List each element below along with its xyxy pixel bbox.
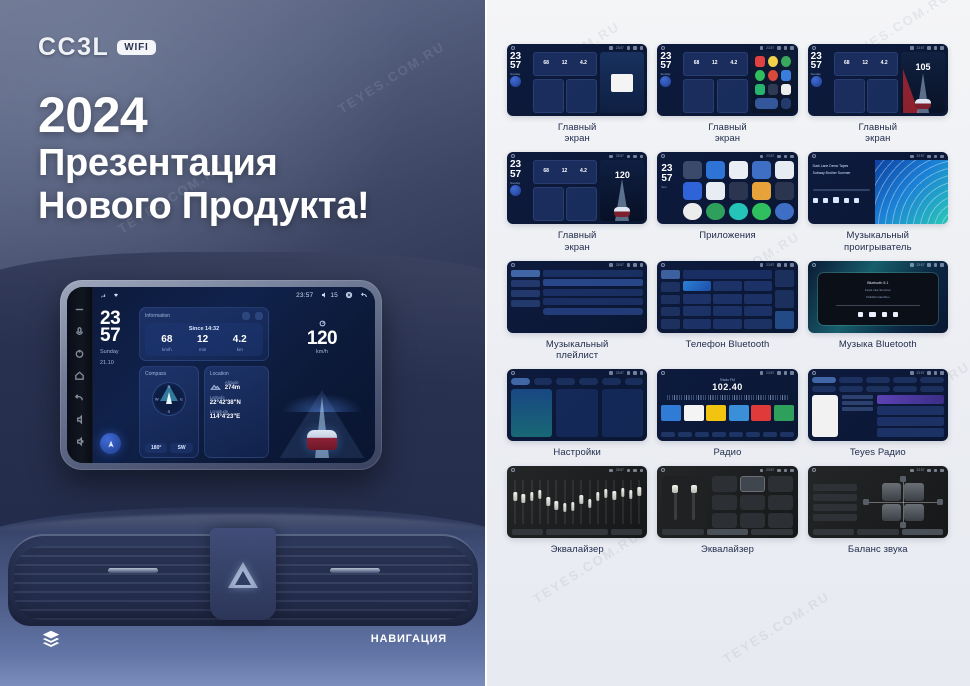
logo-wifi-badge: WIFI: [117, 40, 155, 55]
navigation-fab-button[interactable]: [100, 433, 121, 454]
gallery-item[interactable]: 23:57 Эквалайзер: [657, 466, 797, 555]
clock-weekday: Sunday: [100, 349, 134, 356]
balance-right-arrow[interactable]: [937, 499, 943, 505]
caption-line-2: плейлист: [546, 350, 609, 361]
gallery-item[interactable]: 23:57 Музыкальный плейлист: [507, 261, 647, 361]
home-icon[interactable]: [74, 370, 85, 381]
menu-icon[interactable]: [74, 304, 85, 315]
compass-direction: SW: [170, 443, 192, 453]
headline-line-2: Нового Продукта!: [38, 185, 369, 228]
status-volume: 15: [330, 292, 338, 299]
information-since: Since 14:32: [149, 326, 259, 332]
layers-stack-icon: [40, 628, 62, 650]
screen-thumbnail-home-media[interactable]: 23:57 2357Sunday 68124.2: [507, 44, 647, 116]
screen-thumbnail-equalizer-bands[interactable]: 23:57: [507, 466, 647, 538]
back-arrow-icon[interactable]: [360, 291, 368, 299]
speed-unit: km/h: [274, 349, 370, 355]
latitude-value: 22°42'38"N: [210, 400, 263, 406]
presentation-slide: TEYES.COM.RU TEYES.COM.RU TEYES.COM.RU C…: [0, 0, 970, 686]
screen-thumbnail-bt-phone[interactable]: 23:57: [657, 261, 797, 333]
screen-thumbnail-home-drive[interactable]: 23:57 2357Sunday 68124.2 120: [507, 152, 647, 224]
clock-date: 21.10: [100, 360, 134, 367]
head-unit-bezel: [67, 287, 93, 463]
caption-line-1: Радио: [714, 447, 742, 458]
back-icon[interactable]: [74, 392, 85, 403]
power-icon[interactable]: [74, 348, 85, 359]
location-card[interactable]: Location Altitude 274m: [204, 366, 269, 458]
headline-line-1: Презентация: [38, 142, 369, 185]
caption-line-1: Главный: [708, 122, 747, 133]
radio-frequency: 102.40: [661, 382, 793, 392]
head-unit: 23:57 15: [60, 280, 382, 470]
gallery-item[interactable]: 23:57 Настройки: [507, 369, 647, 458]
stat-duration: 12 min: [197, 335, 208, 352]
hazard-triangle-icon: [228, 562, 258, 588]
stat-value: 68: [161, 335, 172, 345]
gallery-item[interactable]: 23:57 Dark Lane Demo Tapes Subway Brothe…: [808, 152, 948, 252]
compass-heading: 180°: [145, 443, 167, 453]
screen-thumbnail-sound-balance[interactable]: 23:57: [808, 466, 948, 538]
stat-unit: km: [233, 347, 247, 352]
screen-thumbnail-apps[interactable]: 23:57 2357Sun: [657, 152, 797, 224]
gallery-item[interactable]: 23:57 Teyes Радио: [808, 369, 948, 458]
volume-down-icon[interactable]: [74, 414, 85, 425]
balance-left-arrow[interactable]: [863, 499, 869, 505]
headline-year: 2024: [38, 88, 369, 142]
gallery-item[interactable]: 23:57 2357Sunday 68124.2 Главный: [507, 44, 647, 144]
navigation-arrow-icon: [106, 439, 116, 449]
information-title: Information: [145, 313, 170, 319]
gallery-item[interactable]: 23:57: [507, 466, 647, 555]
caption-line-1: Эквалайзер: [551, 544, 604, 555]
screen-thumbnail-bt-music[interactable]: 23:57 Bluetooth 5.1 Feels Like Summer Ch…: [808, 261, 948, 333]
settings-gear-icon[interactable]: [345, 291, 353, 299]
stat-unit: km/h: [161, 347, 172, 352]
screen-thumbnail-home-apps[interactable]: 23:57 2357Sunday 68124.2: [657, 44, 797, 116]
stat-speed: 68 km/h: [161, 335, 172, 352]
mic-icon[interactable]: [74, 326, 85, 337]
head-unit-screen[interactable]: 23:57 15: [93, 287, 375, 463]
altitude-value: 274m: [225, 385, 240, 391]
compass-north: N: [167, 384, 170, 389]
speed-gauge-icon: [318, 319, 327, 328]
caption-line-1: Главный: [558, 230, 597, 241]
gallery-item[interactable]: 23:57 2357Sun Приложения: [657, 152, 797, 252]
watermark: TEYES.COM.RU: [720, 589, 832, 667]
hero-footer: НАВИГАЦИЯ: [0, 628, 485, 652]
hero-panel: TEYES.COM.RU TEYES.COM.RU TEYES.COM.RU C…: [0, 0, 485, 686]
caption-line-1: Музыкальный: [546, 339, 609, 350]
location-title: Location: [210, 371, 229, 377]
caption-line-1: Teyes Радио: [850, 447, 906, 458]
caption-line-1: Главный: [859, 122, 898, 133]
clock-minutes: 57: [100, 327, 134, 344]
compass-card[interactable]: Compass N E S W: [139, 366, 199, 458]
headline-block: 2024 Презентация Нового Продукта!: [38, 88, 369, 227]
gallery-item[interactable]: 23:57 2357Sunday 68124.2: [657, 44, 797, 144]
information-card[interactable]: Information Since 14:32: [139, 307, 269, 361]
music-track-title: Dark Lane Demo Tapes: [813, 164, 849, 168]
screen-thumbnail-home-drive-red[interactable]: 23:57 2357Sunday 68124.2 105: [808, 44, 948, 116]
gallery-item[interactable]: 23:57 2357Sunday 68124.2 105: [808, 44, 948, 144]
screens-grid: 23:57 2357Sunday 68124.2 Главный: [507, 44, 948, 556]
wifi-icon: [112, 291, 120, 299]
caption-line-2: экран: [558, 242, 597, 253]
gallery-item[interactable]: 23:57 2357Sunday 68124.2 120: [507, 152, 647, 252]
volume-up-icon[interactable]: [74, 436, 85, 447]
car-dashboard-scene: 23:57 15: [0, 252, 485, 686]
status-bar: 23:57 15: [93, 287, 375, 303]
clock-column: 23 57 Sunday 21.10: [98, 307, 134, 458]
signal-icon: [100, 291, 108, 299]
stat-value: 4.2: [233, 335, 247, 345]
longitude-value: 114°4'23"E: [210, 414, 263, 420]
bluetooth-version-label: Bluetooth 5.1: [867, 281, 888, 285]
gallery-item[interactable]: 23:57 Bluetooth 5.1 Feels Like Summer Ch…: [808, 261, 948, 361]
caption-line-1: Музыка Bluetooth: [839, 339, 917, 350]
panel-divider: [485, 0, 487, 686]
volume-icon: [320, 291, 328, 299]
thumb-speed: 120: [600, 170, 644, 180]
caption-line-1: Телефон Bluetooth: [686, 339, 770, 350]
caption-line-1: Эквалайзер: [701, 544, 754, 555]
compass-west: W: [155, 397, 159, 402]
stat-distance: 4.2 km: [233, 335, 247, 352]
bt-track-artist: Childish Gambino: [866, 295, 890, 299]
gallery-item[interactable]: 23:57 Телефон Bluetooth: [657, 261, 797, 361]
status-clock: 23:57: [296, 292, 313, 299]
information-settings-icon[interactable]: [242, 312, 250, 320]
gallery-item[interactable]: 23:57 Rádio FM 102.40 Радио: [657, 369, 797, 458]
caption-line-1: Баланс звука: [848, 544, 908, 555]
caption-line-2: экран: [708, 133, 747, 144]
mountain-icon: [210, 381, 221, 392]
screen-thumbnail-music-player[interactable]: 23:57 Dark Lane Demo Tapes Subway Brothe…: [808, 152, 948, 224]
vent-chrome-right: [330, 568, 380, 573]
caption-line-2: проигрыватель: [844, 242, 912, 253]
screen-thumbnail-radio[interactable]: 23:57 Rádio FM 102.40: [657, 369, 797, 441]
screens-gallery-panel: TEYES.COM.RU TEYES.COM.RU TEYES.COM.RU T…: [485, 0, 970, 686]
caption-line-1: Главный: [558, 122, 597, 133]
caption-line-2: экран: [558, 133, 597, 144]
caption-line-1: Музыкальный: [844, 230, 912, 241]
compass-title: Compass: [145, 371, 166, 377]
balance-down-arrow[interactable]: [900, 522, 906, 528]
compass-south: S: [168, 409, 171, 414]
thumb-speed: 105: [901, 62, 945, 72]
screen-thumbnail-teyes-radio[interactable]: 23:57: [808, 369, 948, 441]
vent-chrome-left: [108, 568, 158, 573]
stat-unit: min: [197, 347, 208, 352]
screen-thumbnail-settings[interactable]: 23:57: [507, 369, 647, 441]
stat-value: 12: [197, 335, 208, 345]
balance-up-arrow[interactable]: [900, 476, 906, 482]
compass-east: E: [180, 397, 183, 402]
gallery-item[interactable]: 23:57 Бала: [808, 466, 948, 555]
logo-model-text: CC3L: [38, 33, 109, 62]
caption-line-1: Приложения: [699, 230, 756, 241]
bt-track-title: Feels Like Summer: [865, 288, 891, 292]
screen-thumbnail-playlist[interactable]: 23:57: [507, 261, 647, 333]
music-track-artist: Subway Brother Summer: [813, 171, 851, 175]
hazard-button[interactable]: [210, 528, 276, 620]
speed-value: 120: [274, 329, 370, 348]
caption-line-1: Настройки: [553, 447, 600, 458]
screen-thumbnail-equalizer-presets[interactable]: 23:57: [657, 466, 797, 538]
compass-dial: N E S W: [152, 382, 186, 416]
drive-view-panel[interactable]: 120 km/h: [274, 307, 370, 458]
caption-line-2: экран: [859, 133, 898, 144]
information-expand-icon[interactable]: [255, 312, 263, 320]
vehicle-3d-model: [307, 430, 337, 450]
product-logo: CC3L WIFI: [38, 33, 156, 62]
navigation-label: НАВИГАЦИЯ: [371, 633, 447, 645]
